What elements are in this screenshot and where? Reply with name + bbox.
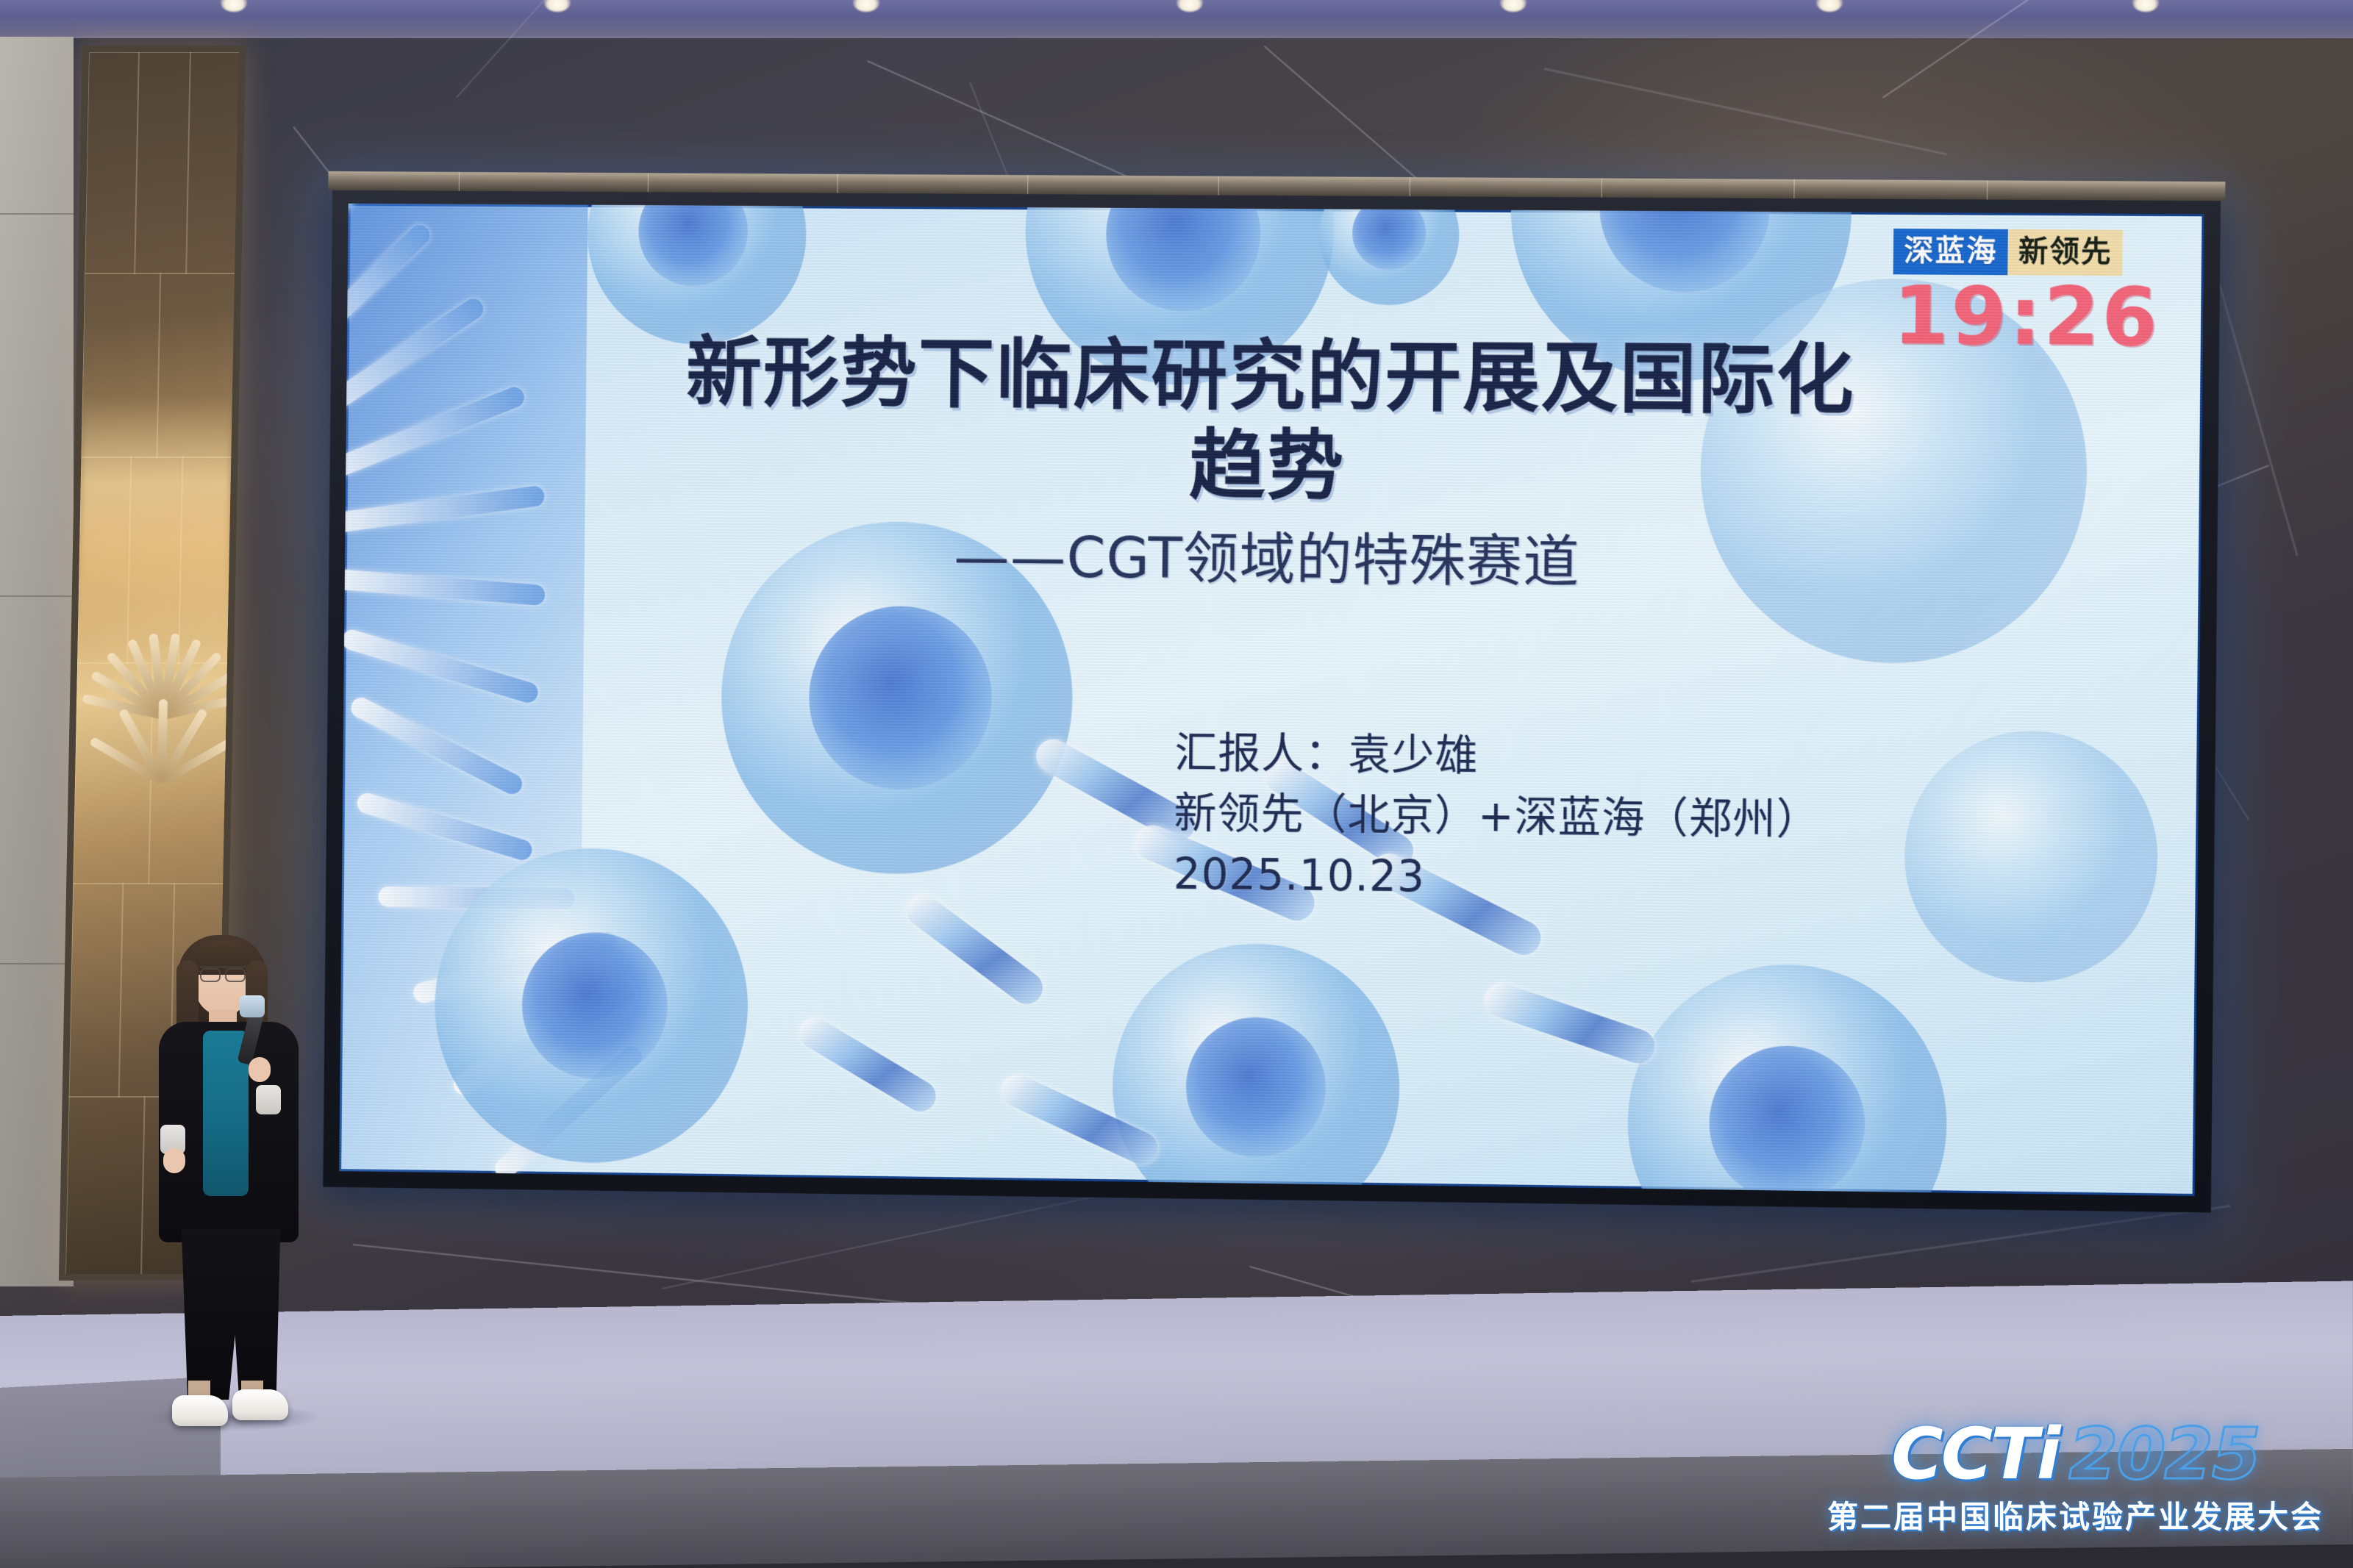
ceiling-downlight [1176, 0, 1203, 12]
bacteria-rod-graphic [996, 1070, 1163, 1170]
cell-nucleus-graphic [1105, 204, 1261, 312]
sneaker-left [172, 1395, 228, 1426]
presenter-name-line: 汇报人：袁少雄 [1174, 723, 1821, 790]
shirt-cuff-right [256, 1085, 281, 1114]
presenter-figure [144, 928, 312, 1442]
slide-presenter-block: 汇报人：袁少雄 新领先（北京）+深蓝海（郑州） 2025.10.23 [1173, 723, 1821, 912]
led-screen[interactable]: 深蓝海 新领先 19:26 新形势下临床研究的开展及国际化 趋势 ——CGT领域… [323, 187, 2221, 1213]
cell-graphic [1318, 204, 1460, 306]
right-hand [249, 1057, 271, 1082]
slide-title-line-1: 新形势下临床研究的开展及国际化 [346, 326, 2203, 429]
fan-light-fixture [88, 618, 232, 861]
slide-canvas: 深蓝海 新领先 19:26 新形势下临床研究的开展及国际化 趋势 ——CGT领域… [339, 204, 2204, 1196]
ceiling-downlight [1816, 0, 1843, 12]
presenter-org-line: 新领先（北京）+深蓝海（郑州） [1174, 783, 1820, 851]
left-hand [163, 1148, 185, 1173]
slide-title-line-2: 趋势 [346, 415, 2202, 518]
ceiling-downlight [853, 0, 879, 12]
black-trousers [179, 1229, 282, 1400]
badge-xinlingxian: 新领先 [2007, 229, 2123, 276]
conference-stage-scene: 深蓝海 新领先 19:26 新形势下临床研究的开展及国际化 趋势 ——CGT领域… [0, 0, 2353, 1568]
sneaker-right [232, 1389, 288, 1420]
glasses [200, 966, 246, 979]
cell-graphic [1111, 942, 1401, 1196]
ceiling-downlight [544, 0, 571, 12]
badge-shenlanhai: 深蓝海 [1893, 229, 2008, 275]
ceiling-downlight [2132, 0, 2159, 12]
cell-nucleus-graphic [1599, 204, 1771, 293]
slide-subtitle: ——CGT领域的特殊赛道 [345, 506, 2202, 603]
cell-nucleus-graphic [1185, 1017, 1327, 1158]
cell-graphic [1904, 730, 2159, 984]
presenter-date-line: 2025.10.23 [1173, 843, 1819, 911]
cell-nucleus-graphic [1352, 204, 1427, 271]
cell-nucleus-graphic [1708, 1045, 1865, 1196]
bacteria-rod-graphic [1480, 979, 1659, 1068]
slide-title: 新形势下临床研究的开展及国际化 趋势 [346, 326, 2203, 519]
timer-brand-badges: 深蓝海 新领先 [1893, 229, 2161, 276]
ceiling-downlight [1500, 0, 1527, 12]
microphone-icon [240, 995, 265, 1017]
ceiling-downlight [221, 0, 247, 12]
cell-graphic [1627, 963, 1949, 1196]
